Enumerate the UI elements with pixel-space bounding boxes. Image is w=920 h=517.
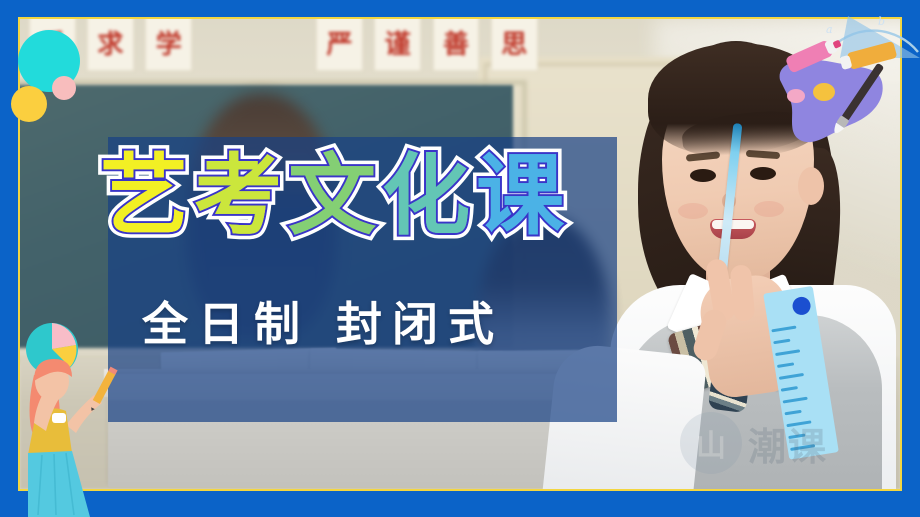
page-title: 艺考文化课: [100, 152, 570, 240]
triangle-label-b: b: [878, 15, 885, 28]
paint-blob-pink: [787, 89, 805, 103]
triangle-label-a: a: [826, 23, 833, 36]
wall-poster-card: 求: [87, 19, 134, 71]
ruler-icon: [740, 283, 860, 463]
ruler-decoration: [740, 283, 860, 463]
cuff: [52, 413, 66, 423]
girl-with-pie-chart-illustration: [0, 317, 140, 517]
skirt: [28, 451, 90, 517]
pink-dot-decoration: [52, 76, 76, 100]
teeth: [712, 220, 754, 229]
wall-poster-card: 善: [433, 19, 480, 71]
pencil-icon: [88, 367, 118, 413]
poster-canvas: 乐 求 学 严 谨 善 思: [0, 0, 920, 517]
title-char: 文: [288, 152, 382, 240]
title-char: 艺: [100, 152, 194, 240]
title-char: 考: [194, 152, 288, 240]
wall-poster-card: 思: [491, 19, 538, 71]
eye: [750, 167, 776, 180]
wall-poster-card: 谨: [374, 19, 421, 71]
wall-poster-card: 学: [145, 19, 192, 71]
wall-poster-card: 严: [316, 19, 363, 71]
eye: [690, 169, 716, 182]
page-subtitle: 全日制 封闭式: [142, 288, 504, 354]
art-kit-decoration: a b c: [756, 0, 920, 158]
mouth: [710, 219, 756, 239]
title-char: 化: [382, 152, 476, 240]
art-kit-icon: a b c: [756, 0, 920, 158]
ear: [798, 167, 824, 205]
title-char: 课: [476, 152, 570, 240]
illustration-icon: [0, 317, 140, 517]
paint-blob-yellow: [813, 83, 835, 101]
cheek: [754, 201, 784, 217]
yellow-dot-decoration: [11, 86, 47, 122]
cheek: [678, 203, 708, 219]
